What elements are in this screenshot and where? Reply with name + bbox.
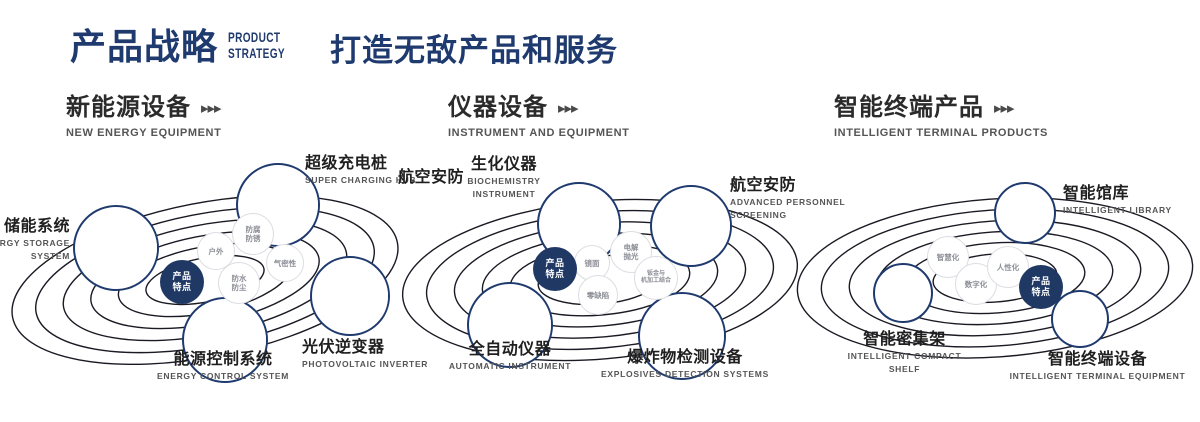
chevron-right-icon: ▸▸▸ — [558, 101, 578, 116]
bubble-label: 数字化 — [965, 280, 988, 289]
caption-energy-control-system: 能源控制系统 ENERGY CONTROL SYSTEM — [98, 350, 348, 382]
feature-bubble-sheetmetal-machining: 钣金与 机加工结合 — [634, 256, 678, 300]
page-slogan: 打造无敌产品和服务 — [330, 32, 618, 70]
badge-label-line2: 特点 — [172, 282, 191, 292]
page-title-en: PRODUCT STRATEGY — [228, 29, 285, 61]
caption-aviation-security-extra: 航空安防 — [398, 168, 498, 187]
badge-label-line1: 产品 — [545, 258, 564, 268]
page-title-cn: 产品战略 — [70, 26, 218, 68]
caption-cn: 智能馆库 — [1063, 184, 1200, 203]
cluster-instrument: 生化仪器 BIOCHEMISTRY INSTRUMENT 航空安防 航空安防 A… — [400, 150, 800, 410]
product-features-badge: 产品 特点 — [160, 260, 204, 304]
battery-cabinet-photo — [75, 207, 159, 291]
section-title-cn: 仪器设备 — [448, 94, 548, 122]
caption-en-line1: EXPLOSIVES DETECTION SYSTEMS — [580, 369, 790, 380]
smart-library-photo — [996, 184, 1056, 244]
caption-cn: 智能终端设备 — [980, 350, 1200, 369]
chevron-right-icon: ▸▸▸ — [201, 101, 221, 116]
node-intelligent-library[interactable] — [994, 182, 1056, 244]
bubble-label: 户外 — [209, 247, 224, 256]
caption-en-line1: INTELLIGENT TERMINAL EQUIPMENT — [980, 371, 1200, 382]
caption-cn: 能源控制系统 — [98, 350, 348, 369]
bubble-label: 镜面 — [585, 259, 600, 268]
screening-machine-photo — [652, 187, 732, 267]
section-title-new-energy: 新能源设备 ▸▸▸ NEW ENERGY EQUIPMENT — [66, 94, 221, 139]
caption-cn: 爆炸物检测设备 — [580, 348, 790, 367]
section-title-en: INTELLIGENT TERMINAL PRODUCTS — [834, 127, 1048, 139]
caption-intelligent-library: 智能馆库 INTELLIGENT LIBRARY — [1063, 184, 1200, 216]
bubble-label-line2: 机加工结合 — [641, 278, 671, 284]
caption-automatic-instrument: 全自动仪器 AUTOMATIC INSTRUMENT — [415, 340, 605, 372]
caption-energy-storage-system: 储能系统 ENERGY STORAGE SYSTEM — [0, 217, 70, 262]
cluster-intelligent-terminal: 智能馆库 INTELLIGENT LIBRARY 智能密集架 INTELLIGE… — [795, 150, 1195, 410]
caption-explosives-detection: 爆炸物检测设备 EXPLOSIVES DETECTION SYSTEMS — [580, 348, 790, 380]
page-header: 产品战略 PRODUCT STRATEGY — [70, 26, 307, 68]
compact-shelf-photo — [875, 265, 933, 323]
caption-cn: 全自动仪器 — [415, 340, 605, 359]
caption-en-line2: INSTRUMENT — [420, 189, 588, 200]
bubble-label: 气密性 — [274, 259, 297, 268]
caption-en-line1: AUTOMATIC INSTRUMENT — [415, 361, 605, 372]
cluster-new-energy: 储能系统 ENERGY STORAGE SYSTEM 超级充电桩 SUPER C… — [5, 150, 405, 410]
badge-label-line1: 产品 — [172, 271, 191, 281]
bubble-label: 钣金与 机加工结合 — [641, 271, 671, 286]
terminal-kiosk-photo — [1053, 292, 1109, 348]
caption-cn: 储能系统 — [0, 217, 70, 236]
bubble-label: 防水 防尘 — [232, 274, 247, 292]
product-strategy-infographic: 产品战略 PRODUCT STRATEGY 打造无敌产品和服务 新能源设备 ▸▸… — [0, 0, 1200, 422]
bubble-label-line1: 防腐 — [246, 225, 261, 234]
product-features-badge: 产品 特点 — [1019, 265, 1063, 309]
node-advanced-personnel-screening[interactable] — [650, 185, 732, 267]
bubble-label-line2: 防尘 — [232, 283, 247, 292]
section-title-en: NEW ENERGY EQUIPMENT — [66, 127, 221, 139]
caption-en-line2: SHELF — [817, 364, 992, 375]
badge-label: 产品 特点 — [1031, 276, 1050, 298]
feature-bubble-waterproof: 防水 防尘 — [218, 262, 260, 304]
page-title-en-line1: PRODUCT — [228, 29, 285, 45]
feature-bubble-airtightness: 气密性 — [266, 244, 304, 282]
badge-label: 产品 特点 — [172, 271, 191, 293]
bubble-label-line2: 防锈 — [246, 234, 261, 243]
bubble-label-line1: 电解 — [624, 243, 639, 252]
badge-label: 产品 特点 — [545, 258, 564, 280]
caption-en-line1: INTELLIGENT COMPACT — [817, 351, 992, 362]
bubble-label-line1: 钣金与 — [647, 271, 665, 277]
caption-intelligent-compact-shelf: 智能密集架 INTELLIGENT COMPACT SHELF — [817, 330, 992, 375]
caption-en-line1: INTELLIGENT LIBRARY — [1063, 205, 1200, 216]
bubble-label: 人性化 — [997, 263, 1020, 272]
node-photovoltaic-inverter[interactable] — [310, 256, 390, 336]
feature-bubble-anticorrosion: 防腐 防锈 — [232, 213, 274, 255]
bubble-label-line1: 防水 — [232, 274, 247, 283]
caption-en-line2: SYSTEM — [0, 251, 70, 262]
badge-label-line2: 特点 — [545, 269, 564, 279]
caption-intelligent-terminal-equipment: 智能终端设备 INTELLIGENT TERMINAL EQUIPMENT — [980, 350, 1200, 382]
bubble-label: 电解 抛光 — [624, 243, 639, 261]
section-title-instrument: 仪器设备 ▸▸▸ INSTRUMENT AND EQUIPMENT — [448, 94, 629, 139]
chevron-right-icon: ▸▸▸ — [994, 101, 1014, 116]
bubble-label: 零缺陷 — [587, 291, 610, 300]
section-title-cn: 智能终端产品 — [834, 94, 984, 122]
badge-label-line1: 产品 — [1031, 276, 1050, 286]
section-title-cn: 新能源设备 — [66, 94, 191, 122]
bubble-label: 智慧化 — [937, 253, 960, 262]
section-title-en: INSTRUMENT AND EQUIPMENT — [448, 127, 629, 139]
feature-bubble-zero-defect: 零缺陷 — [578, 275, 618, 315]
page-title-en-line2: STRATEGY — [228, 45, 285, 61]
caption-en-line1: ENERGY STORAGE — [0, 238, 70, 249]
section-title-intelligent-terminal: 智能终端产品 ▸▸▸ INTELLIGENT TERMINAL PRODUCTS — [834, 94, 1048, 139]
inverter-cabinet-photo — [312, 258, 390, 336]
caption-en-line1: ENERGY CONTROL SYSTEM — [98, 371, 348, 382]
caption-cn: 航空安防 — [398, 168, 498, 187]
bubble-label-line2: 抛光 — [624, 252, 639, 261]
product-features-badge: 产品 特点 — [533, 247, 577, 291]
node-intelligent-terminal-equipment[interactable] — [1051, 290, 1109, 348]
badge-label-line2: 特点 — [1031, 287, 1050, 297]
bubble-label: 防腐 防锈 — [246, 225, 261, 243]
node-energy-storage-system[interactable] — [73, 205, 159, 291]
caption-cn: 智能密集架 — [817, 330, 992, 349]
node-intelligent-compact-shelf[interactable] — [873, 263, 933, 323]
